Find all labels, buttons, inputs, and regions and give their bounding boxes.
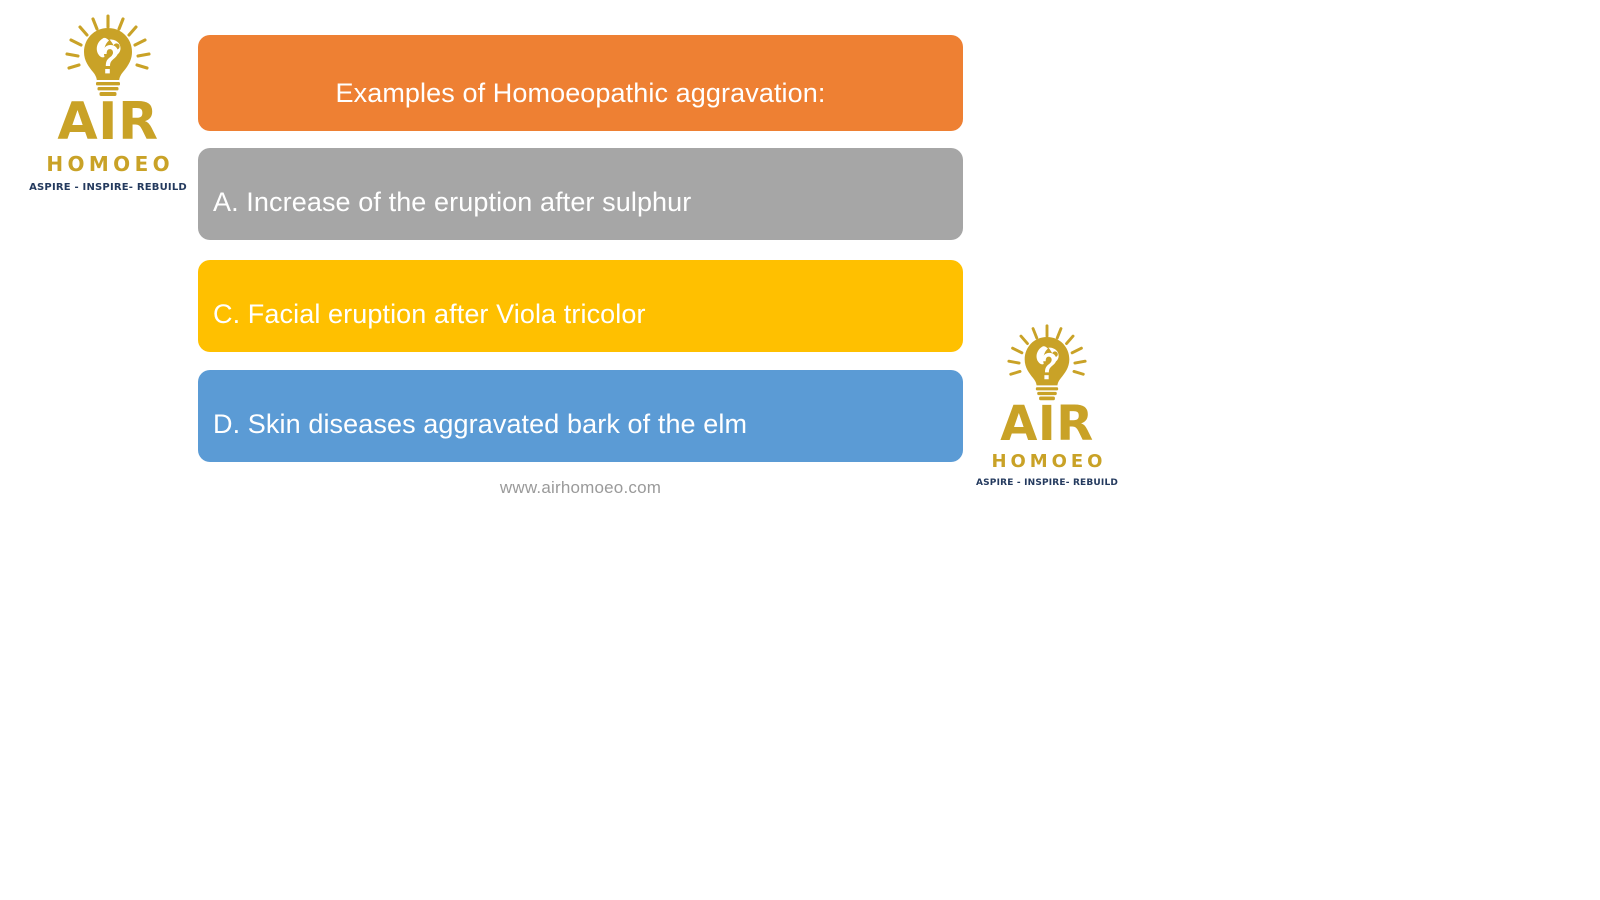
option-c-label: C. Facial eruption after Viola tricolor	[213, 299, 646, 330]
option-a[interactable]: A. Increase of the eruption after sulphu…	[198, 148, 963, 240]
logo-tagline: ASPIRE - INSPIRE- REBUILD	[976, 479, 1118, 488]
logo-tagline: ASPIRE - INSPIRE- REBUILD	[29, 183, 187, 193]
logo-subword: HOMOEO	[42, 154, 174, 174]
option-a-label: A. Increase of the eruption after sulphu…	[213, 187, 691, 218]
title-bar: Examples of Homoeopathic aggravation:	[198, 35, 963, 131]
title-text: Examples of Homoeopathic aggravation:	[336, 78, 826, 109]
lightbulb-question-head-icon	[62, 14, 154, 100]
logo-subword: HOMOEO	[988, 453, 1107, 471]
logo-wordmark: AIR	[1000, 400, 1093, 448]
slide-canvas: AIR HOMOEO ASPIRE - INSPIRE- REBUILD Exa…	[0, 0, 1600, 900]
brand-logo-main: AIR HOMOEO ASPIRE - INSPIRE- REBUILD	[40, 14, 176, 193]
website-url: www.airhomoeo.com	[198, 478, 963, 498]
lightbulb-question-head-icon	[1004, 324, 1090, 404]
option-c[interactable]: C. Facial eruption after Viola tricolor	[198, 260, 963, 352]
logo-wordmark: AIR	[57, 96, 158, 148]
option-d[interactable]: D. Skin diseases aggravated bark of the …	[198, 370, 963, 462]
option-d-label: D. Skin diseases aggravated bark of the …	[213, 409, 747, 440]
brand-logo-secondary: AIR HOMOEO ASPIRE - INSPIRE- REBUILD	[983, 324, 1111, 488]
